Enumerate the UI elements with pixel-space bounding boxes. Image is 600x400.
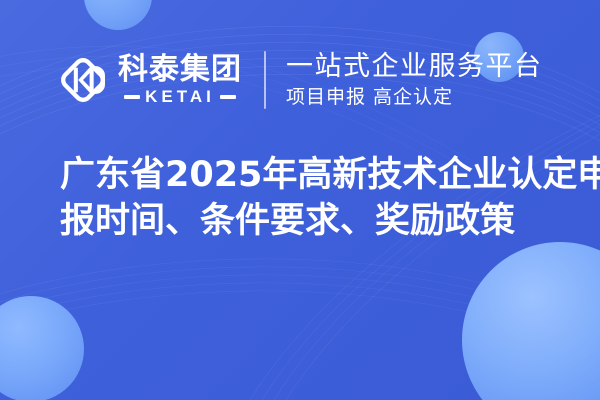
brand-name-en-row: KETAI (118, 88, 242, 106)
decorative-circle-bottom-left (0, 296, 84, 400)
banner-header: 科泰集团 KETAI 一站式企业服务平台 项目申报 高企认定 (0, 44, 600, 116)
brand-wordmark: 科泰集团 KETAI (118, 54, 242, 106)
brand-logo-lockup: 科泰集团 KETAI (56, 53, 242, 107)
tagline-block: 一站式企业服务平台 项目申报 高企认定 (286, 51, 543, 110)
promo-banner: 科泰集团 KETAI 一站式企业服务平台 项目申报 高企认定 广东省2025年高… (0, 0, 600, 400)
headline-line-1: 广东省2025年高新技术企业认定申 (60, 152, 570, 198)
brand-name-cn: 科泰集团 (118, 54, 242, 86)
tagline-sub: 项目申报 高企认定 (286, 84, 543, 110)
headline-line-2: 报时间、条件要求、奖励政策 (60, 198, 570, 244)
ketai-diamond-kd-logo-icon (56, 53, 110, 107)
logo-dash-left-icon (124, 95, 140, 99)
header-divider (264, 51, 266, 109)
decorative-circle-top-left (84, 0, 152, 30)
brand-name-en: KETAI (145, 88, 215, 106)
decorative-circle-bottom-right (462, 242, 600, 400)
logo-dash-right-icon (220, 95, 236, 99)
tagline-main: 一站式企业服务平台 (286, 51, 543, 83)
headline: 广东省2025年高新技术企业认定申 报时间、条件要求、奖励政策 (60, 152, 570, 244)
